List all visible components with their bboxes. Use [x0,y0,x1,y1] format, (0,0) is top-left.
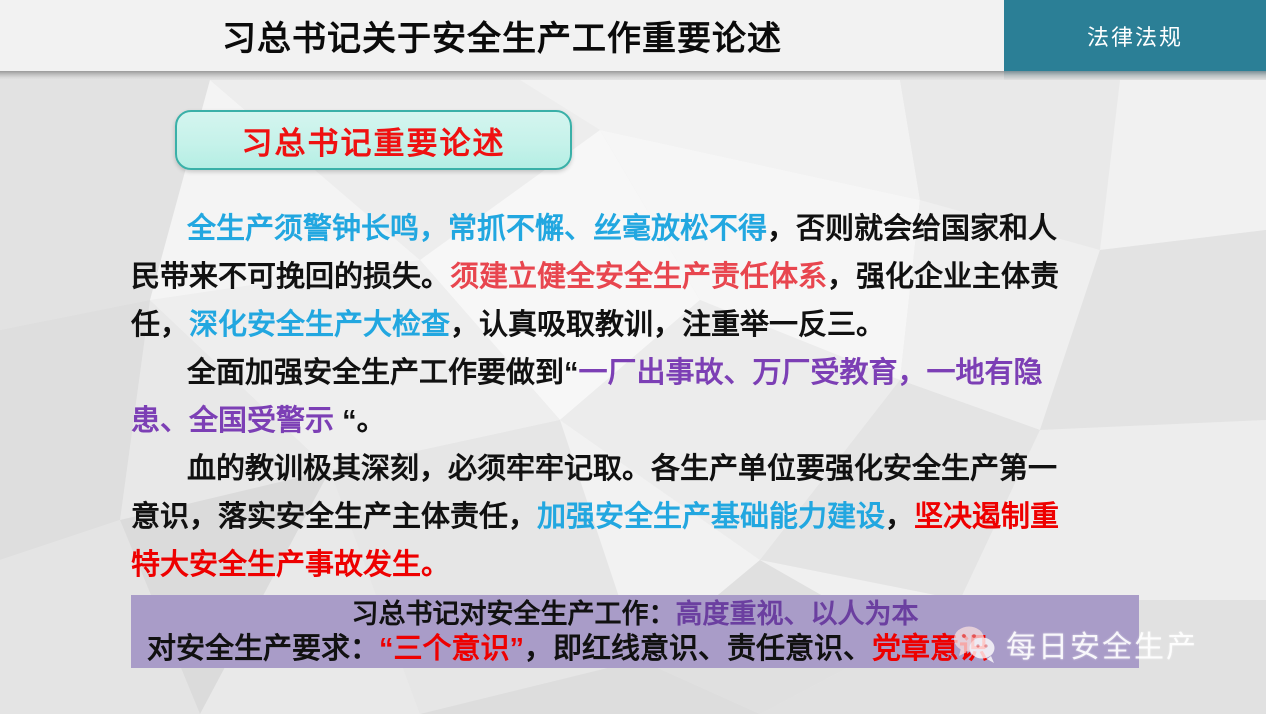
text-run: ，即红线意识、责任意识、 [524,633,872,665]
summary-banner: 习总书记对安全生产工作：高度重视、以人为本 对安全生产要求：“三个意识”，即红线… [131,595,1139,668]
text-run: 加强安全生产基础能力建设 [537,501,885,533]
text-run: 须建立健全安全生产责任体系 [450,261,827,293]
text-run: 对安全生产要求： [147,633,379,665]
text-run: 全面加强安全生产工作要做到“ [187,357,579,389]
paragraph-2: 全面加强安全生产工作要做到“一厂出事故、万厂受教育，一地有隐患、全国受警示 “。 [131,349,1071,445]
slide-canvas: 习总书记关于安全生产工作重要论述 法律法规 习总书记重要论述 全生产须警钟长鸣，… [0,0,1266,714]
text-run: 全生产须警钟长鸣，常抓不懈、丝毫放松不得 [187,213,767,245]
text-run: “三个意识” [379,633,524,665]
paragraph-3: 血的教训极其深刻，必须牢牢记取。各生产单位要强化安全生产第一意识，落实安全生产主… [131,445,1071,589]
text-run: 习总书记对安全生产工作： [352,599,676,629]
body-text-block: 全生产须警钟长鸣，常抓不懈、丝毫放松不得，否则就会给国家和人民带来不可挽回的损失… [131,205,1071,589]
text-run: ，认真吸取教训，注重举一反三。 [450,309,885,341]
header-tab-law-regulation[interactable]: 法律法规 [1004,0,1266,71]
text-run: 党章意识 [872,633,988,665]
text-run: 深化安全生产大检查 [189,309,450,341]
text-run: ， [885,501,914,533]
summary-line-1: 习总书记对安全生产工作：高度重视、以人为本 [131,597,1139,631]
paragraph-1: 全生产须警钟长鸣，常抓不懈、丝毫放松不得，否则就会给国家和人民带来不可挽回的损失… [131,205,1071,349]
summary-line-2: 对安全生产要求：“三个意识”，即红线意识、责任意识、党章意识 [147,631,1139,668]
page-title: 习总书记关于安全生产工作重要论述 [0,0,1004,71]
section-badge-label: 习总书记重要论述 [242,118,506,163]
section-badge: 习总书记重要论述 [175,110,572,170]
text-run: “。 [334,405,386,437]
header-tab-shadow [1004,71,1266,80]
text-run: 高度重视、以人为本 [676,599,919,629]
